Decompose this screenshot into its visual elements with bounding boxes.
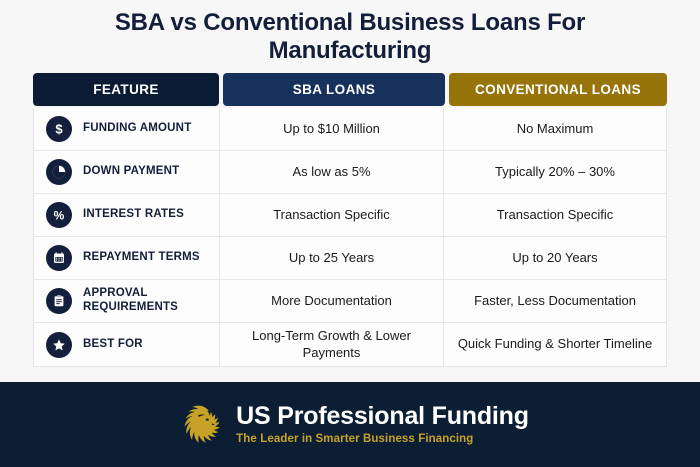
feature-label: BEST FOR	[83, 338, 143, 352]
conventional-value: Typically 20% – 30%	[444, 151, 666, 193]
sba-value: As low as 5%	[220, 151, 444, 193]
feature-label: DOWN PAYMENT	[83, 165, 179, 179]
feature-cell: DOWN PAYMENT	[34, 151, 220, 193]
feature-cell: $ FUNDING AMOUNT	[34, 108, 220, 150]
feature-cell: % INTEREST RATES	[34, 194, 220, 236]
lion-head-icon	[171, 394, 227, 455]
sba-value: Up to 25 Years	[220, 237, 444, 279]
sba-value: More Documentation	[220, 280, 444, 322]
table-header-row: FEATURE SBA LOANS CONVENTIONAL LOANS	[33, 73, 667, 106]
pie-chart-icon	[46, 159, 72, 185]
clipboard-icon	[46, 288, 72, 314]
sba-value: Long-Term Growth & Lower Payments	[220, 323, 444, 366]
table-row: REPAYMENT TERMS Up to 25 Years Up to 20 …	[34, 237, 666, 280]
sba-value: Up to $10 Million	[220, 108, 444, 150]
table-body: $ FUNDING AMOUNT Up to $10 Million No Ma…	[33, 108, 667, 367]
percent-icon: %	[46, 202, 72, 228]
conventional-value: No Maximum	[444, 108, 666, 150]
table-row: % INTEREST RATES Transaction Specific Tr…	[34, 194, 666, 237]
star-icon	[46, 332, 72, 358]
column-header-sba-loans: SBA LOANS	[223, 73, 445, 106]
feature-label: APPROVAL REQUIREMENTS	[83, 287, 213, 315]
page-title: SBA vs Conventional Business Loans For M…	[0, 0, 700, 66]
comparison-table: FEATURE SBA LOANS CONVENTIONAL LOANS $ F…	[33, 73, 667, 367]
feature-cell: APPROVAL REQUIREMENTS	[34, 280, 220, 322]
svg-text:%: %	[54, 208, 65, 222]
table-row: DOWN PAYMENT As low as 5% Typically 20% …	[34, 151, 666, 194]
dollar-sign-icon: $	[46, 116, 72, 142]
feature-label: FUNDING AMOUNT	[83, 122, 191, 136]
brand-text: US Professional Funding The Leader in Sm…	[236, 404, 529, 445]
feature-label: INTEREST RATES	[83, 208, 184, 222]
calendar-icon	[46, 245, 72, 271]
table-row: BEST FOR Long-Term Growth & Lower Paymen…	[34, 323, 666, 366]
table-row: APPROVAL REQUIREMENTS More Documentation…	[34, 280, 666, 323]
svg-text:$: $	[55, 122, 63, 137]
conventional-value: Quick Funding & Shorter Timeline	[444, 323, 666, 366]
brand-tagline: The Leader in Smarter Business Financing	[236, 433, 529, 445]
sba-value: Transaction Specific	[220, 194, 444, 236]
footer-band: US Professional Funding The Leader in Sm…	[0, 382, 700, 467]
conventional-value: Faster, Less Documentation	[444, 280, 666, 322]
table-row: $ FUNDING AMOUNT Up to $10 Million No Ma…	[34, 108, 666, 151]
feature-cell: BEST FOR	[34, 323, 220, 366]
conventional-value: Up to 20 Years	[444, 237, 666, 279]
brand-logo: US Professional Funding The Leader in Sm…	[171, 394, 529, 455]
column-header-feature: FEATURE	[33, 73, 219, 106]
brand-name: US Professional Funding	[236, 404, 529, 429]
feature-cell: REPAYMENT TERMS	[34, 237, 220, 279]
conventional-value: Transaction Specific	[444, 194, 666, 236]
column-header-conventional-loans: CONVENTIONAL LOANS	[449, 73, 667, 106]
feature-label: REPAYMENT TERMS	[83, 251, 200, 265]
